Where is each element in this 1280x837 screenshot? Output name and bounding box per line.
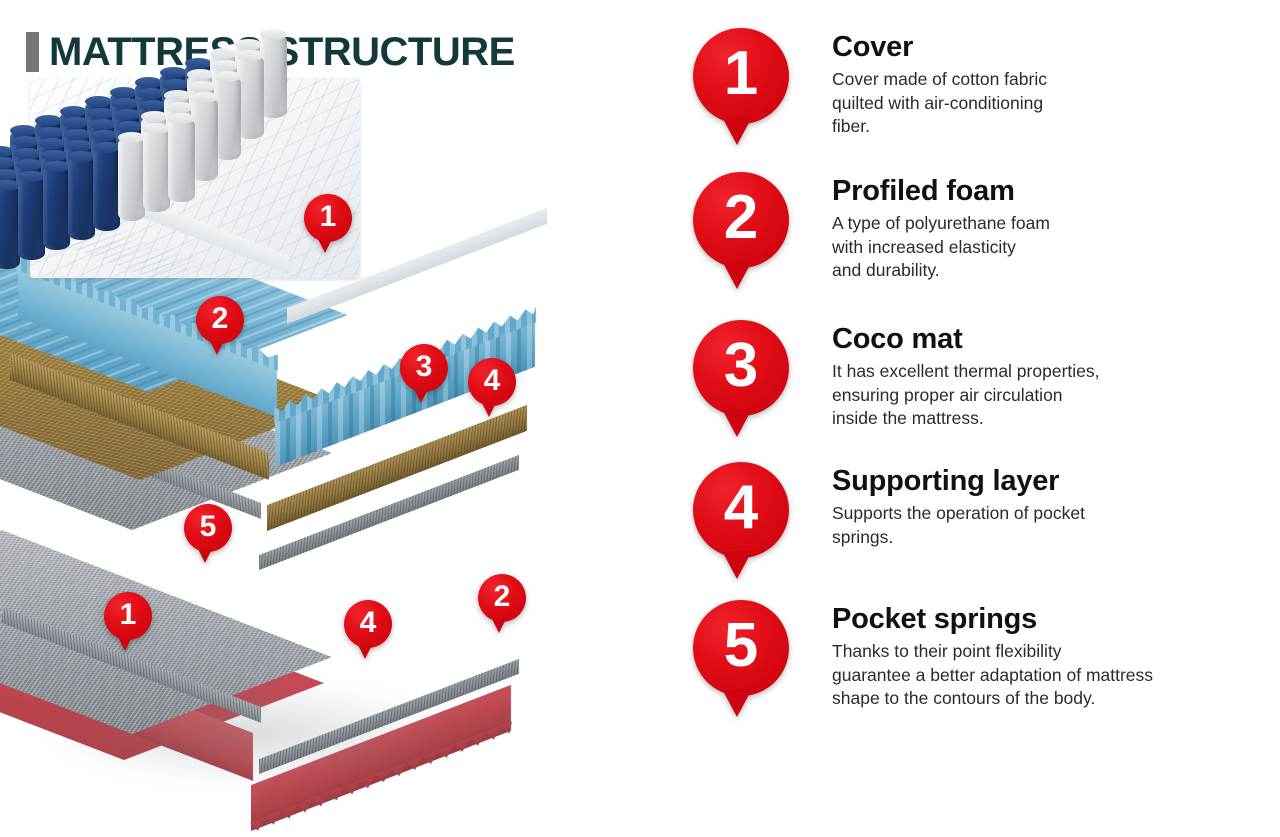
legend-pin-wrapper: 3 bbox=[650, 320, 832, 416]
diagram-marker-profiled-foam[interactable]: 2 bbox=[196, 296, 244, 344]
legend-text-block: Coco matIt has excellent thermal propert… bbox=[832, 320, 1100, 430]
title-accent-bar bbox=[26, 32, 39, 72]
legend-title: Profiled foam bbox=[832, 176, 1050, 207]
legend-item-supporting-layer[interactable]: 4Supporting layerSupports the operation … bbox=[650, 462, 1280, 558]
diagram-marker-pocket-springs[interactable]: 5 bbox=[184, 504, 232, 552]
legend-text-block: Profiled foamA type of polyurethane foam… bbox=[832, 172, 1050, 282]
diagram-marker-supporting-layer[interactable]: 4 bbox=[344, 600, 392, 648]
legend-marker-pin[interactable]: 4 bbox=[693, 462, 789, 558]
pocket-spring bbox=[18, 176, 45, 260]
legend-marker-number: 2 bbox=[724, 187, 758, 249]
legend-pin-wrapper: 1 bbox=[650, 28, 832, 124]
pocket-spring bbox=[118, 137, 145, 221]
diagram-marker-number: 2 bbox=[212, 304, 229, 334]
legend-title: Coco mat bbox=[832, 324, 1100, 355]
diagram-marker-number: 1 bbox=[320, 202, 337, 232]
diagram-marker-cover[interactable]: 1 bbox=[304, 194, 352, 242]
pocket-spring bbox=[168, 118, 195, 202]
legend-text-block: Pocket springsThanks to their point flex… bbox=[832, 600, 1153, 710]
diagram-marker-number: 2 bbox=[494, 582, 511, 612]
legend-item-profiled-foam[interactable]: 2Profiled foamA type of polyurethane foa… bbox=[650, 172, 1280, 282]
legend-pin-wrapper: 2 bbox=[650, 172, 832, 268]
legend-marker-pin[interactable]: 2 bbox=[693, 172, 789, 268]
diagram-marker-coco-mat[interactable]: 3 bbox=[400, 344, 448, 392]
legend-title: Supporting layer bbox=[832, 466, 1085, 497]
diagram-marker-profiled-foam[interactable]: 2 bbox=[478, 574, 526, 622]
pocket-spring bbox=[43, 166, 70, 250]
diagram-marker-number: 1 bbox=[120, 600, 137, 630]
legend-panel: 1CoverCover made of cotton fabric quilte… bbox=[650, 0, 1280, 743]
legend-marker-number: 5 bbox=[724, 615, 758, 677]
pocket-spring bbox=[214, 76, 241, 160]
legend-title: Cover bbox=[832, 32, 1047, 63]
diagram-marker-number: 4 bbox=[484, 366, 501, 396]
pocket-spring bbox=[0, 185, 20, 269]
legend-item-pocket-springs[interactable]: 5Pocket springsThanks to their point fle… bbox=[650, 600, 1280, 710]
pocket-spring bbox=[93, 147, 120, 231]
legend-description: A type of polyurethane foam with increas… bbox=[832, 212, 1050, 282]
legend-marker-pin[interactable]: 3 bbox=[693, 320, 789, 416]
legend-description: Cover made of cotton fabric quilted with… bbox=[832, 68, 1047, 138]
diagram-marker-number: 5 bbox=[200, 512, 217, 542]
diagram-marker-number: 4 bbox=[360, 608, 377, 638]
legend-description: It has excellent thermal properties, ens… bbox=[832, 360, 1100, 430]
legend-text-block: CoverCover made of cotton fabric quilted… bbox=[832, 28, 1047, 138]
diagram-marker-supporting-layer[interactable]: 4 bbox=[468, 358, 516, 406]
mattress-illustration: 12345142 bbox=[0, 78, 650, 718]
legend-item-coco-mat[interactable]: 3Coco matIt has excellent thermal proper… bbox=[650, 320, 1280, 430]
legend-item-cover[interactable]: 1CoverCover made of cotton fabric quilte… bbox=[650, 28, 1280, 138]
pocket-spring bbox=[191, 97, 218, 181]
diagram-marker-number: 3 bbox=[416, 352, 433, 382]
legend-description: Supports the operation of pocket springs… bbox=[832, 502, 1085, 549]
legend-marker-pin[interactable]: 1 bbox=[693, 28, 789, 124]
legend-description: Thanks to their point flexibility guaran… bbox=[832, 640, 1153, 710]
legend-title: Pocket springs bbox=[832, 604, 1153, 635]
legend-marker-number: 1 bbox=[724, 43, 758, 105]
pocket-spring bbox=[237, 55, 264, 139]
diagram-marker-base-foam[interactable]: 1 bbox=[104, 592, 152, 640]
legend-marker-number: 4 bbox=[724, 477, 758, 539]
legend-text-block: Supporting layerSupports the operation o… bbox=[832, 462, 1085, 549]
pocket-spring bbox=[143, 128, 170, 212]
legend-pin-wrapper: 4 bbox=[650, 462, 832, 558]
pocket-spring bbox=[68, 156, 95, 240]
pocket-spring bbox=[260, 34, 287, 118]
legend-marker-number: 3 bbox=[724, 335, 758, 397]
legend-pin-wrapper: 5 bbox=[650, 600, 832, 696]
legend-marker-pin[interactable]: 5 bbox=[693, 600, 789, 696]
diagram-panel: MATTRESS STRUCTURE bbox=[0, 0, 650, 743]
